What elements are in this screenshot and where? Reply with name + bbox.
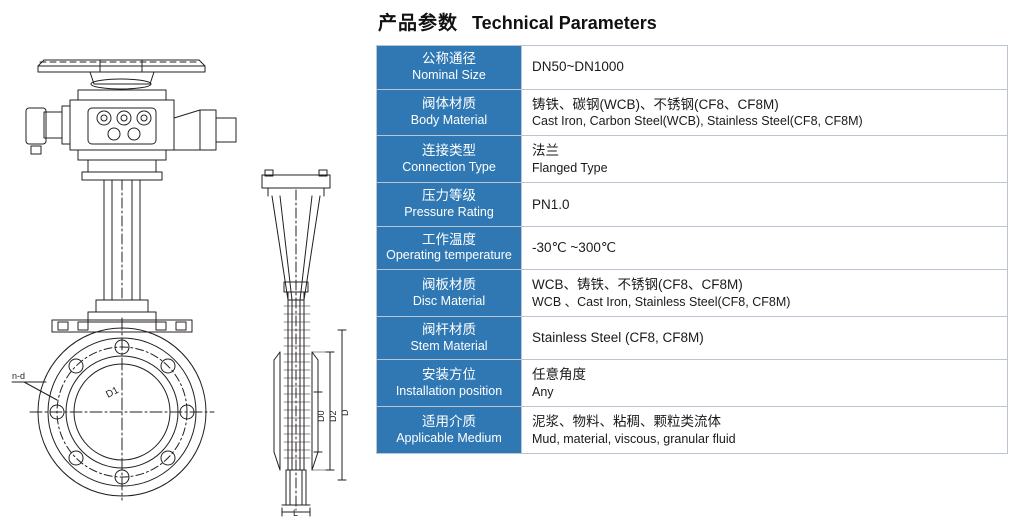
label-cn: 阀杆材质	[379, 322, 519, 339]
row-label-operating-temperature: 工作温度 Operating temperature	[377, 226, 522, 270]
heading-cn: 产品参数	[378, 8, 458, 35]
row-label-disc-material: 阀板材质 Disc Material	[377, 270, 522, 317]
row-label-connection-type: 连接类型 Connection Type	[377, 136, 522, 183]
stem-column	[82, 172, 162, 322]
row-label-installation-position: 安装方位 Installation position	[377, 360, 522, 407]
label-en: Connection Type	[379, 160, 519, 176]
table-row: 阀杆材质 Stem Material Stainless Steel (CF8,…	[377, 316, 1008, 360]
actuator-handwheel	[38, 60, 205, 89]
label-en: Applicable Medium	[379, 431, 519, 447]
label-en: Installation position	[379, 384, 519, 400]
row-value-pressure-rating: PN1.0	[522, 183, 1008, 227]
row-value-body-material: 铸铁、碳钢(WCB)、不锈钢(CF8、CF8M) Cast Iron, Carb…	[522, 89, 1008, 136]
label-en: Operating temperature	[379, 248, 519, 264]
label-en: Nominal Size	[379, 68, 519, 84]
label-d2: D2	[328, 410, 338, 422]
label-n-d: n-d	[12, 371, 25, 381]
row-label-body-material: 阀体材质 Body Material	[377, 89, 522, 136]
table-row: 阀体材质 Body Material 铸铁、碳钢(WCB)、不锈钢(CF8、CF…	[377, 89, 1008, 136]
product-drawing: n-d D1 D0 D2 D L	[0, 0, 370, 517]
row-value-installation-position: 任意角度 Any	[522, 360, 1008, 407]
value-en: Flanged Type	[532, 160, 997, 176]
value-text: Stainless Steel (CF8, CF8M)	[532, 329, 997, 347]
value-cn: 任意角度	[532, 366, 997, 384]
row-label-pressure-rating: 压力等级 Pressure Rating	[377, 183, 522, 227]
actuator-body	[26, 90, 236, 172]
table-row: 阀板材质 Disc Material WCB、铸铁、不锈钢(CF8、CF8M) …	[377, 270, 1008, 317]
value-en: Cast Iron, Carbon Steel(WCB), Stainless …	[532, 113, 997, 129]
label-cn: 压力等级	[379, 188, 519, 205]
label-en: Stem Material	[379, 339, 519, 355]
table-row: 安装方位 Installation position 任意角度 Any	[377, 360, 1008, 407]
value-text: -30℃ ~300℃	[532, 239, 997, 257]
table-row: 公称通径 Nominal Size DN50~DN1000	[377, 46, 1008, 90]
row-label-applicable-medium: 适用介质 Applicable Medium	[377, 407, 522, 454]
row-value-nominal-size: DN50~DN1000	[522, 46, 1008, 90]
table-row: 工作温度 Operating temperature -30℃ ~300℃	[377, 226, 1008, 270]
row-value-applicable-medium: 泥浆、物料、粘稠、颗粒类流体 Mud, material, viscous, g…	[522, 407, 1008, 454]
value-cn: WCB、铸铁、不锈钢(CF8、CF8M)	[532, 276, 997, 294]
table-row: 压力等级 Pressure Rating PN1.0	[377, 183, 1008, 227]
label-en: Disc Material	[379, 294, 519, 310]
row-label-nominal-size: 公称通径 Nominal Size	[377, 46, 522, 90]
value-cn: 铸铁、碳钢(WCB)、不锈钢(CF8、CF8M)	[532, 96, 997, 114]
label-cn: 工作温度	[379, 232, 519, 249]
technical-parameters-panel: 产品参数 Technical Parameters 公称通径 Nominal S…	[376, 0, 1016, 517]
value-text: PN1.0	[532, 196, 997, 214]
label-en: Body Material	[379, 113, 519, 129]
table-row: 适用介质 Applicable Medium 泥浆、物料、粘稠、颗粒类流体 Mu…	[377, 407, 1008, 454]
label-l: L	[293, 508, 298, 517]
row-label-stem-material: 阀杆材质 Stem Material	[377, 316, 522, 360]
drawing-svg: n-d D1 D0 D2 D L	[0, 0, 370, 517]
label-cn: 阀板材质	[379, 277, 519, 294]
value-text: DN50~DN1000	[532, 58, 997, 76]
value-en: Mud, material, viscous, granular fluid	[532, 431, 997, 447]
label-d: D	[340, 409, 350, 416]
label-d0: D0	[316, 410, 326, 422]
label-d1: D1	[104, 385, 121, 401]
value-en: WCB 、Cast Iron, Stainless Steel(CF8, CF8…	[532, 294, 997, 310]
label-cn: 连接类型	[379, 143, 519, 160]
page-root: n-d D1 D0 D2 D L 产品参数 Technical Paramete…	[0, 0, 1021, 517]
section-heading: 产品参数 Technical Parameters	[378, 0, 1016, 45]
heading-en: Technical Parameters	[472, 13, 657, 34]
label-cn: 安装方位	[379, 367, 519, 384]
table-row: 连接类型 Connection Type 法兰 Flanged Type	[377, 136, 1008, 183]
value-en: Any	[532, 384, 997, 400]
section-view	[262, 170, 346, 516]
row-value-operating-temperature: -30℃ ~300℃	[522, 226, 1008, 270]
value-cn: 泥浆、物料、粘稠、颗粒类流体	[532, 413, 997, 431]
label-en: Pressure Rating	[379, 205, 519, 221]
value-cn: 法兰	[532, 142, 997, 160]
row-value-stem-material: Stainless Steel (CF8, CF8M)	[522, 316, 1008, 360]
label-cn: 阀体材质	[379, 96, 519, 113]
label-cn: 适用介质	[379, 414, 519, 431]
label-cn: 公称通径	[379, 51, 519, 68]
row-value-connection-type: 法兰 Flanged Type	[522, 136, 1008, 183]
spec-table: 公称通径 Nominal Size DN50~DN1000 阀体材质 Body …	[376, 45, 1008, 454]
row-value-disc-material: WCB、铸铁、不锈钢(CF8、CF8M) WCB 、Cast Iron, Sta…	[522, 270, 1008, 317]
valve-flange-front	[12, 318, 214, 500]
